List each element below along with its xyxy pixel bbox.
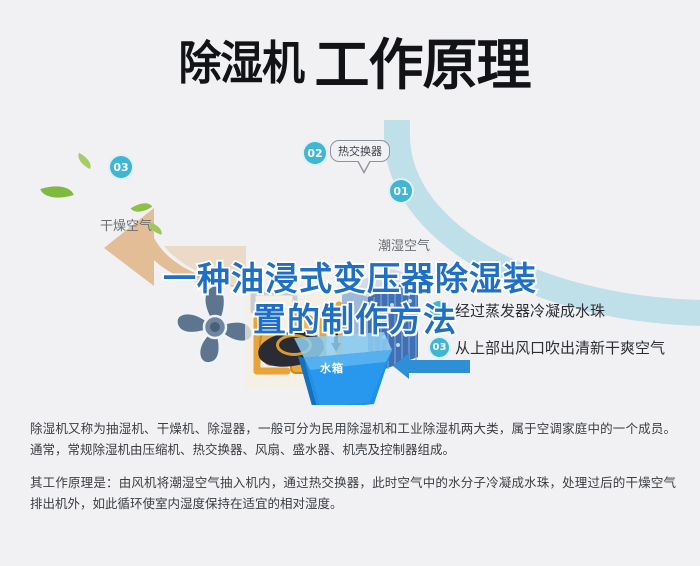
leaf-icon: [75, 153, 95, 169]
water-tank-label: 水箱: [320, 360, 344, 376]
body-paragraph-2: 其工作原理是：由风机将潮湿空气抽入机内，通过热交换器，此时空气中的水分子冷凝成水…: [30, 472, 676, 514]
diagram-legend: 02 经过蒸发器冷凝成水珠 03 从上部出风口吹出清新干爽空气: [430, 300, 700, 374]
legend-item: 02 经过蒸发器冷凝成水珠: [430, 300, 700, 321]
page-title-part1: 除湿机: [179, 27, 305, 93]
badge-02-legend: 02: [430, 301, 449, 320]
badge-02: 02: [304, 142, 326, 164]
page-title-part2: 工作原理: [314, 20, 530, 100]
page-title: 除湿机 工作原理: [0, 22, 700, 97]
badge-03-legend: 03: [430, 338, 449, 357]
sweep-fade-mask: [620, 120, 700, 170]
dehumidifier-diagram: 水箱 热交换器 03 02 01 干燥空气 潮湿空气 02 经过蒸发器冷凝成水珠…: [0, 120, 700, 405]
infographic-page: 除湿机 工作原理: [0, 0, 700, 566]
legend-text: 经过蒸发器冷凝成水珠: [455, 300, 605, 321]
badge-03: 03: [110, 156, 132, 178]
article-body: 除湿机又称为抽湿机、干燥机、除湿器，一般可分为民用除湿机和工业除湿机两大类，属于…: [30, 418, 676, 524]
caption-humid-air: 潮湿空气: [378, 235, 430, 254]
badge-01: 01: [390, 180, 412, 202]
heat-exchanger-callout: 热交换器: [330, 140, 390, 162]
caption-dry-air: 干燥空气: [100, 215, 152, 234]
legend-text: 从上部出风口吹出清新干爽空气: [455, 337, 665, 358]
body-paragraph-1: 除湿机又称为抽湿机、干燥机、除湿器，一般可分为民用除湿机和工业除湿机两大类，属于…: [30, 418, 676, 460]
legend-item: 03 从上部出风口吹出清新干爽空气: [430, 337, 700, 358]
